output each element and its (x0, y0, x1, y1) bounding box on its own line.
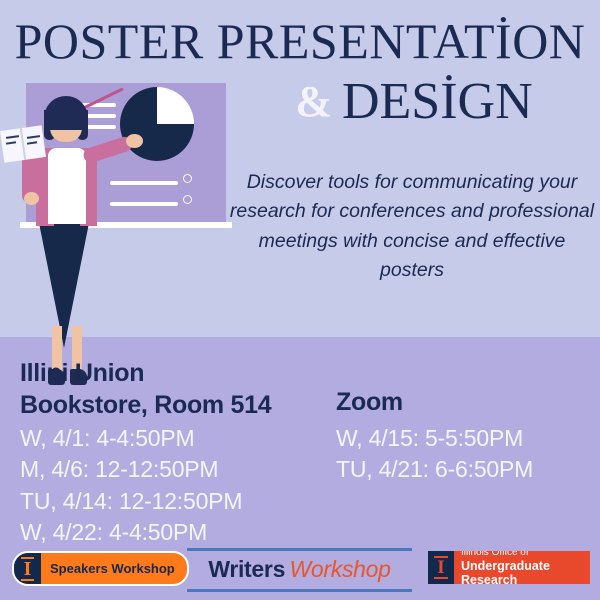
poster-description: Discover tools for communicating your re… (228, 168, 596, 285)
presenter-hand-left (24, 192, 39, 205)
board-bullet-icon (183, 195, 192, 204)
ampersand-glyph: & (295, 77, 332, 126)
page-title-line-2: &DESİGN (228, 76, 600, 128)
illinois-block-i-icon: I (14, 553, 41, 584)
title-design-word: DESİGN (342, 73, 533, 130)
presenter-eye (70, 120, 73, 123)
workshop-word: Workshop (290, 556, 391, 582)
location-heading-inperson: Illini UnionBookstore, Room 514 (20, 357, 320, 421)
event-poster: POSTER PRESENTATİON &DESİGN Discover too… (0, 0, 600, 600)
logo-undergraduate-research[interactable]: I Illinois Office of Undergraduate Resea… (428, 551, 590, 584)
session-line: W, 4/15: 5-5:50PM (336, 423, 596, 454)
presenter-illustration (0, 70, 232, 370)
logo-writers-workshop[interactable]: Writers Workshop (187, 548, 412, 592)
board-text-line (86, 125, 116, 129)
logo-speakers-workshop[interactable]: I Speakers Workshop (12, 551, 189, 586)
page-title-line-1: POSTER PRESENTATİON (0, 16, 600, 66)
session-list-inperson: W, 4/1: 4-4:50PMM, 4/6: 12-12:50PMTU, 4/… (20, 423, 330, 548)
presenter-hand-raised (126, 134, 143, 148)
presenter-eye (58, 120, 61, 123)
undergraduate-research-label: Illinois Office of Undergraduate Researc… (454, 551, 590, 584)
board-bullet-icon (183, 174, 192, 183)
unit-line: Undergraduate Research (461, 559, 590, 584)
board-text-line (110, 202, 178, 206)
pie-chart-graphic (120, 87, 194, 161)
office-line: Illinois Office of (461, 551, 590, 559)
location-heading-zoom: Zoom (336, 386, 586, 418)
location-line: Illini Union (20, 357, 320, 389)
presenter-torso (48, 148, 86, 224)
writers-word: Writers (208, 556, 285, 582)
board-text-line (110, 181, 178, 185)
location-line: Bookstore, Room 514 (20, 389, 320, 421)
session-line: W, 4/1: 4-4:50PM (20, 423, 330, 454)
speakers-workshop-label: Speakers Workshop (41, 561, 175, 576)
illinois-block-i-icon: I (428, 551, 454, 584)
presenter-skirt (38, 218, 90, 348)
session-list-zoom: W, 4/15: 5-5:50PMTU, 4/21: 6-6:50PM (336, 423, 596, 486)
session-line: M, 4/6: 12-12:50PM (20, 454, 330, 485)
session-line: W, 4/22: 4-4:50PM (20, 517, 330, 548)
session-line: TU, 4/21: 6-6:50PM (336, 454, 596, 485)
session-line: TU, 4/14: 12-12:50PM (20, 486, 330, 517)
